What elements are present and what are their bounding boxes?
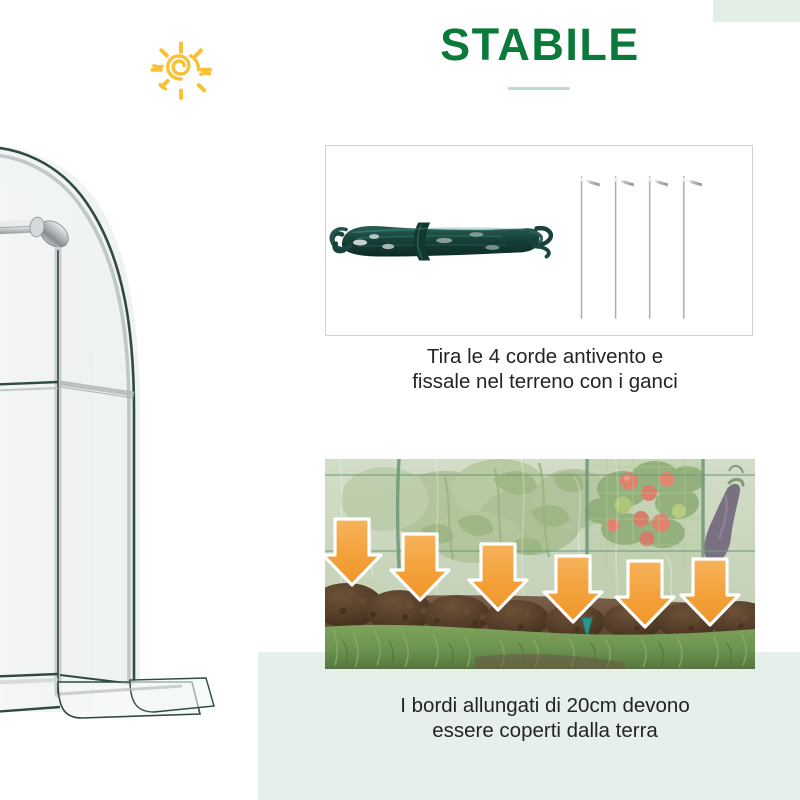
caption-soil-edges-line2: essere coperti dalla terra [345, 718, 745, 743]
greenhouse-soil-photo [325, 459, 755, 669]
greenhouse-illustration [0, 82, 242, 722]
rope-bundle-graphic [331, 222, 551, 260]
caption-ropes-stakes-line2: fissale nel terreno con i ganci [345, 369, 745, 394]
accessories-content [326, 146, 752, 335]
caption-soil-edges-line1: I bordi allungati di 20cm devono [345, 693, 745, 718]
title-underline [508, 87, 570, 90]
caption-soil-edges: I bordi allungati di 20cm devono essere … [345, 693, 745, 743]
page-title: STABILE [330, 22, 750, 67]
decor-panel-top-right [713, 0, 800, 22]
caption-ropes-stakes-line1: Tira le 4 corde antivento e [345, 344, 745, 369]
accessories-box [325, 145, 753, 336]
poster-canvas: STABILE [0, 0, 800, 800]
ground-stakes-graphic [580, 176, 702, 318]
caption-ropes-stakes: Tira le 4 corde antivento e fissale nel … [345, 344, 745, 394]
